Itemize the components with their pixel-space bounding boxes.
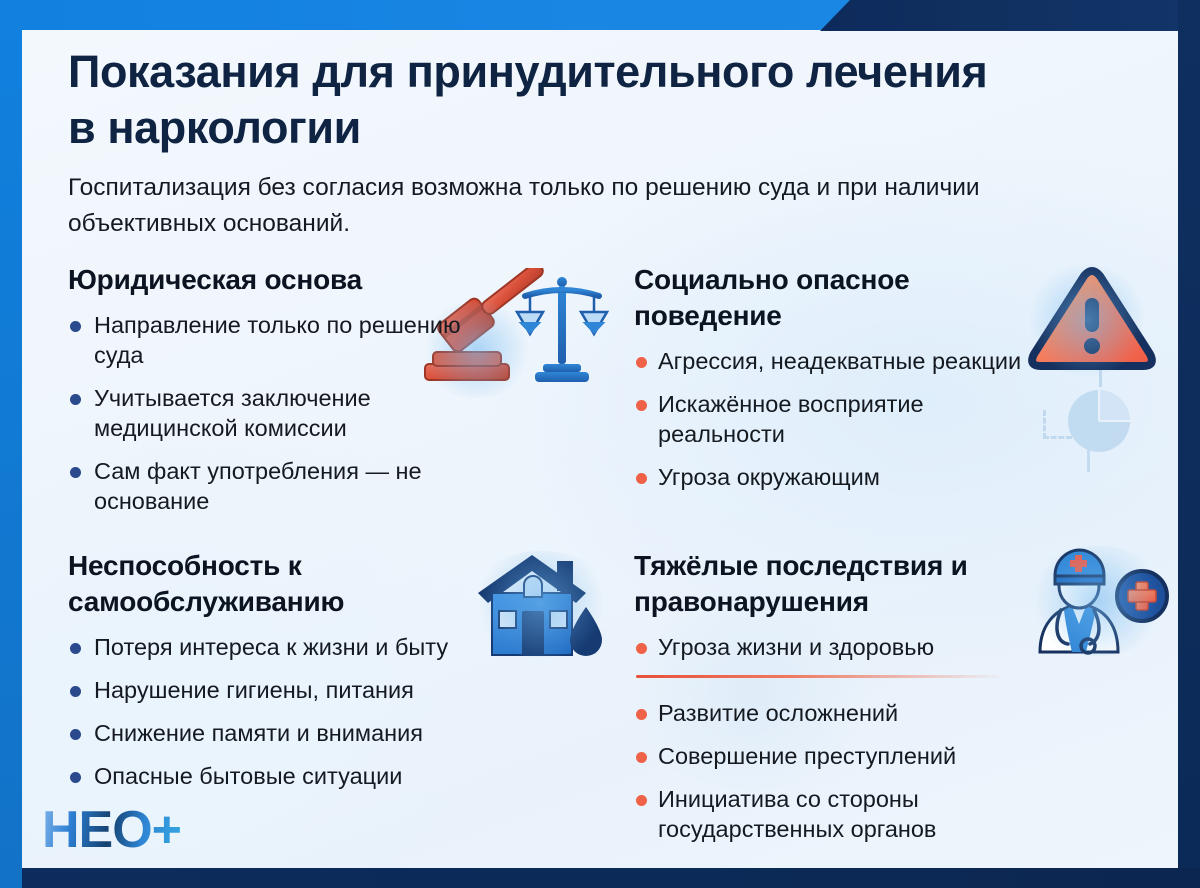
frame-bottom-navy-bar <box>0 868 1200 888</box>
brand-logo: НЕО+ <box>42 800 181 860</box>
warning-triangle-icon <box>1022 260 1162 380</box>
list-item: Потеря интереса к жизни и быту <box>68 632 528 662</box>
section-bullet-list: Агрессия, неадекватные реакции Искажённо… <box>634 346 1034 492</box>
list-item: Сам факт употребления — не основание <box>68 456 488 516</box>
section-severe-consequences: Тяжёлые последствия и правонарушения Угр… <box>634 548 1054 857</box>
section-socially-dangerous-behavior: Социально опасное поведение Агрессия, не… <box>634 262 1034 505</box>
decorative-pie-chart-icon <box>1068 390 1130 452</box>
list-item: Развитие осложнений <box>634 698 1054 728</box>
list-item: Инициатива со стороны государственных ор… <box>634 784 1054 844</box>
section-heading: Юридическая основа <box>68 262 488 298</box>
section-bullet-list: Угроза жизни и здоровью <box>634 632 1054 662</box>
section-legal-basis: Юридическая основа Направление только по… <box>68 262 488 529</box>
page-subtitle: Госпитализация без согласия возможна тол… <box>68 170 1018 242</box>
list-item: Опасные бытовые ситуации <box>68 761 528 791</box>
list-item: Снижение памяти и внимания <box>68 718 528 748</box>
section-divider <box>636 675 1006 678</box>
list-item: Нарушение гигиены, питания <box>68 675 528 705</box>
list-item: Совершение преступлений <box>634 741 1054 771</box>
section-bullet-list: Направление только по решению суда Учиты… <box>68 310 488 516</box>
frame-right-navy-bar <box>1178 0 1200 888</box>
frame-bottom-left-blue-corner <box>0 868 22 888</box>
page-title: Показания для принудительного лечения в … <box>68 44 1018 156</box>
infographic-poster: Показания для принудительного лечения в … <box>0 0 1200 888</box>
frame-top-blue-bar <box>0 0 900 30</box>
list-item: Угроза жизни и здоровью <box>634 632 1054 662</box>
list-item: Направление только по решению суда <box>68 310 488 370</box>
list-item: Искажённое восприятие реальности <box>634 389 1034 449</box>
section-bullet-list-continued: Развитие осложнений Совершение преступле… <box>634 698 1054 844</box>
decorative-tick-icon <box>1087 450 1090 472</box>
section-self-care-inability: Неспособность к самообслуживанию Потеря … <box>68 548 528 804</box>
list-item: Агрессия, неадекватные реакции <box>634 346 1034 376</box>
frame-top-navy-wedge <box>820 0 1200 31</box>
section-heading: Неспособность к самообслуживанию <box>68 548 528 620</box>
list-item: Угроза окружающим <box>634 462 1034 492</box>
list-item: Учитывается заключение медицинской комис… <box>68 383 488 443</box>
section-bullet-list: Потеря интереса к жизни и быту Нарушение… <box>68 632 528 791</box>
poster-canvas: Показания для принудительного лечения в … <box>22 30 1178 870</box>
section-heading: Социально опасное поведение <box>634 262 1034 334</box>
frame-left-blue-bar <box>0 0 22 888</box>
section-heading: Тяжёлые последствия и правонарушения <box>634 548 1054 620</box>
